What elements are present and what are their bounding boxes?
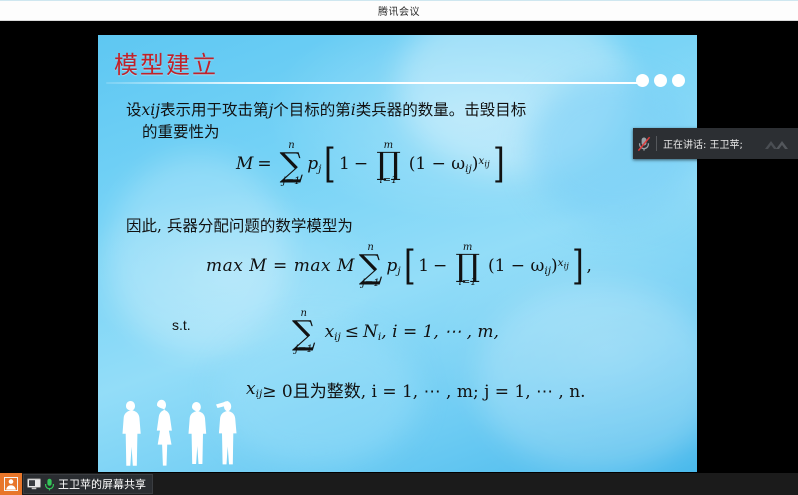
mic-muted-icon[interactable] <box>633 128 655 159</box>
title-divider <box>106 82 646 84</box>
formula-objective: M = n ∑ j=1 pj [ 1 − m ∏ i=1 (1 − ωij)xi… <box>236 141 507 187</box>
pi-icon: ∏ <box>455 253 480 279</box>
window-titlebar: 腾讯会议 <box>0 0 798 21</box>
maximize-lhs: max M = max M <box>206 256 355 276</box>
taskbar-task-label: 王卫苹的屏幕共享 <box>58 476 146 492</box>
decorative-dot-icon <box>636 74 649 87</box>
sigma-icon: ∑ <box>359 253 383 280</box>
taskbar: 王卫苹的屏幕共享 <box>0 473 798 495</box>
decorative-dot-icon <box>672 74 685 87</box>
formula-equals: = <box>257 154 271 174</box>
sigma-icon: ∑ <box>292 319 316 346</box>
user-start-icon <box>4 477 18 491</box>
presentation-slide: 模型建立 设𝑥𝑖𝑗表示用于攻击第𝑗个目标的第𝑖类兵器的数量。击毁目标 的重要性为… <box>98 35 697 472</box>
constraint-relation: ≤ <box>345 322 359 342</box>
constraint-text: ≥ 0且为整数, i = 1, ⋯ , m; j = 1, ⋯ , n. <box>262 377 585 402</box>
summation-symbol: n ∑ j=1 <box>359 243 383 289</box>
chevrons-icon[interactable] <box>762 136 792 152</box>
constraint-bound: Ni <box>363 322 381 343</box>
summation-symbol: n ∑ j=1 <box>280 141 304 187</box>
sum-lower-limit: j=1 <box>283 177 301 188</box>
active-speaker-label: 正在讲话: 王卫苹; <box>663 136 743 151</box>
monitor-icon <box>27 478 41 490</box>
constraint-variable: xij <box>246 379 262 400</box>
formula-minus: − <box>433 256 447 276</box>
prod-lower-limit: i=1 <box>379 176 397 187</box>
formula-factor: (1 − ωij)xij <box>409 154 490 175</box>
people-silhouettes-decoration <box>112 396 242 468</box>
slide-paragraph-1: 设𝑥𝑖𝑗表示用于攻击第𝑗个目标的第𝑖类兵器的数量。击毁目标 <box>126 99 526 122</box>
product-symbol: m ∏ i=1 <box>455 243 480 288</box>
bracket-close: ] <box>572 252 584 281</box>
sigma-icon: ∑ <box>280 151 304 178</box>
product-symbol: m ∏ i=1 <box>376 141 401 186</box>
meeting-screen-share-window: 腾讯会议 模型建立 设𝑥𝑖𝑗表示用于攻击第𝑗个目标的第𝑖类兵器的数量。击毁目标 … <box>0 0 798 495</box>
banner-divider <box>656 136 657 151</box>
constraint-index-range: , i = 1, ⋯ , m, <box>381 322 499 342</box>
bracket-open: [ <box>324 150 336 179</box>
formula-constraint-1: n ∑ j=1 xij ≤ Ni , i = 1, ⋯ , m, <box>288 309 499 355</box>
formula-coefficient: pj <box>386 256 400 277</box>
formula-coefficient: pj <box>307 154 321 175</box>
summation-symbol: n ∑ j=1 <box>292 309 316 355</box>
microphone-icon <box>44 478 55 491</box>
formula-one: 1 <box>339 154 350 174</box>
formula-constraint-2: xij ≥ 0且为整数, i = 1, ⋯ , m; j = 1, ⋯ , n. <box>246 377 586 402</box>
taskbar-task-screen-share[interactable]: 王卫苹的屏幕共享 <box>23 474 153 494</box>
formula-factor: (1 − ωij)xij <box>488 256 569 277</box>
bracket-close: ] <box>493 150 505 179</box>
formula-trailing-comma: , <box>586 256 591 276</box>
start-button[interactable] <box>0 473 22 495</box>
formula-minus: − <box>354 154 368 174</box>
prod-lower-limit: i=1 <box>459 278 477 289</box>
decorative-dot-icon <box>654 74 667 87</box>
bracket-open: [ <box>404 252 416 281</box>
formula-one: 1 <box>418 256 429 276</box>
formula-maximize: max M = max M n ∑ j=1 pj [ 1 − m ∏ i=1 (… <box>206 243 592 289</box>
sum-lower-limit: j=1 <box>362 279 380 290</box>
active-speaker-banner[interactable]: 正在讲话: 王卫苹; <box>633 128 798 159</box>
constraint-variable: xij <box>325 322 341 343</box>
formula-lhs: M <box>236 154 253 174</box>
pi-icon: ∏ <box>376 151 401 177</box>
subject-to-label: s.t. <box>172 315 191 336</box>
sum-lower-limit: j=1 <box>295 345 313 356</box>
slide-title: 模型建立 <box>114 45 218 80</box>
slide-paragraph-1-cont: 的重要性为 <box>142 121 220 144</box>
window-title: 腾讯会议 <box>378 3 420 18</box>
slide-paragraph-2: 因此, 兵器分配问题的数学模型为 <box>126 215 353 238</box>
title-dots-decoration <box>636 74 685 87</box>
